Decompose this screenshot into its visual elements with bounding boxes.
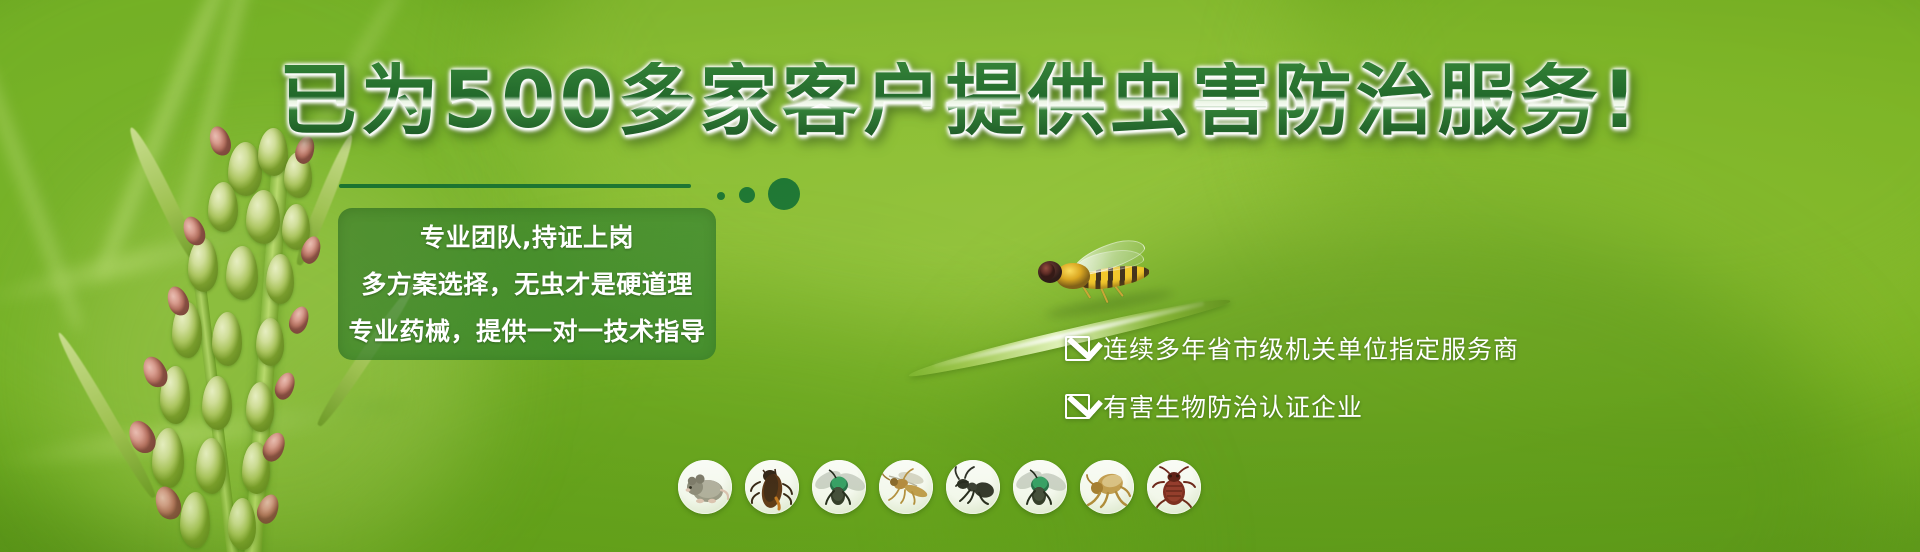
background-vignette: [0, 0, 1920, 552]
pest-control-banner: 已为500多家客户提供虫害防治服务! 专业团队,持证上岗 多方案选择，无虫才是硬…: [0, 0, 1920, 552]
